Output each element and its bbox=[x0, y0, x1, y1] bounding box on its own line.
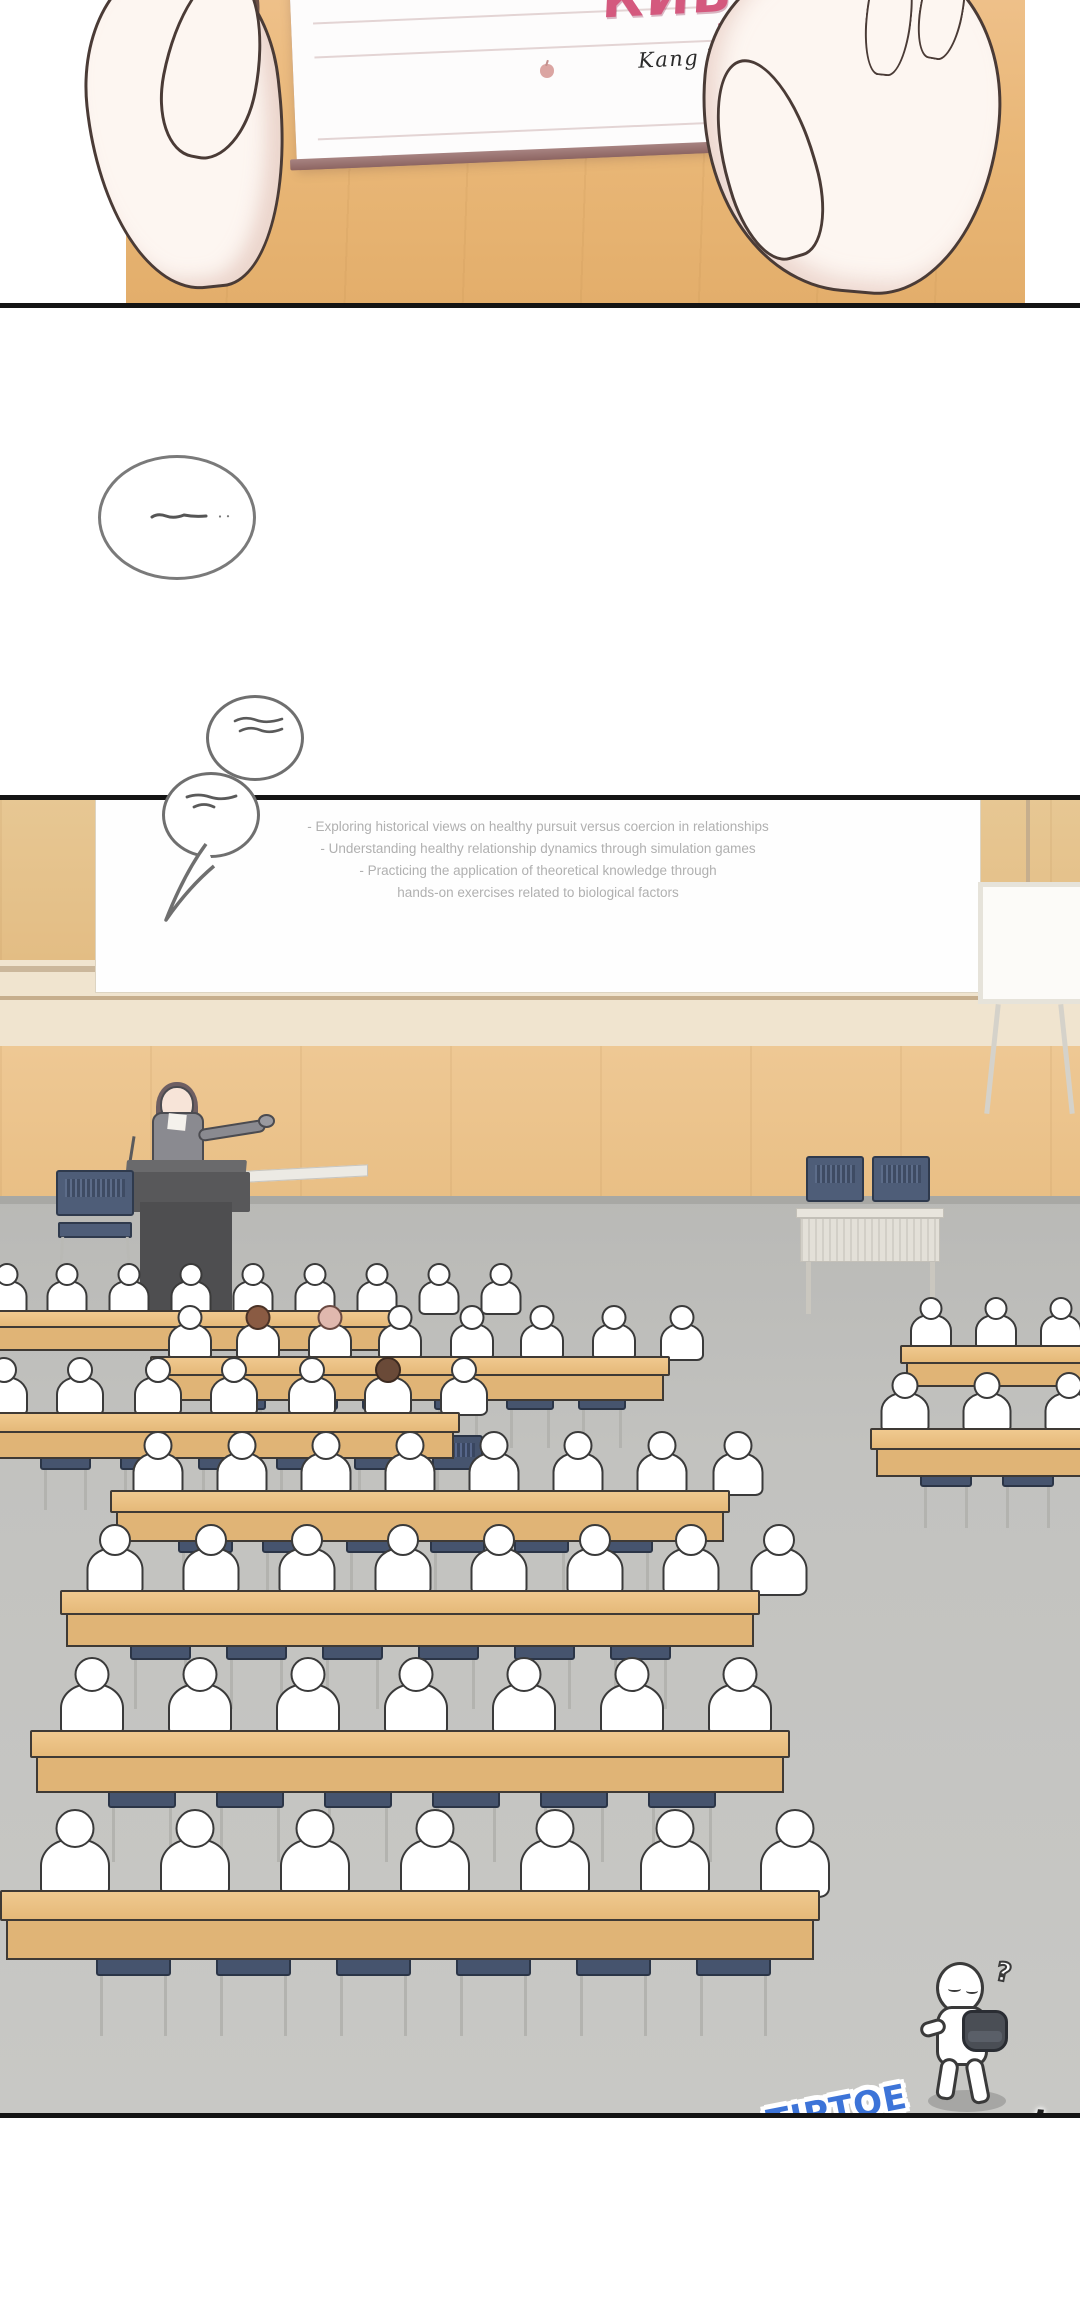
student-head bbox=[75, 1657, 110, 1692]
folding-chair bbox=[872, 1156, 930, 1226]
student-head bbox=[55, 1263, 78, 1286]
speech-bubble-tail bbox=[158, 840, 228, 924]
student-head bbox=[221, 1357, 247, 1383]
student-head bbox=[145, 1357, 171, 1383]
chair-leg bbox=[601, 1808, 604, 1862]
student-head bbox=[395, 1431, 424, 1460]
question-mark-icon: ? bbox=[993, 1957, 1014, 1989]
student-head bbox=[176, 1809, 215, 1848]
slide-bullet: hands-on exercises related to biological… bbox=[96, 883, 980, 904]
chair-leg bbox=[44, 1470, 47, 1510]
panel-margin-right bbox=[1025, 0, 1080, 303]
chair-leg bbox=[580, 1976, 583, 2036]
lecture-desk bbox=[110, 1490, 730, 1513]
whiteboard bbox=[978, 882, 1080, 1004]
student-head bbox=[178, 1305, 203, 1330]
chair-leg bbox=[924, 1487, 927, 1528]
student-head bbox=[241, 1263, 264, 1286]
student-head bbox=[388, 1305, 413, 1330]
student-head bbox=[602, 1305, 627, 1330]
student-head bbox=[365, 1263, 388, 1286]
chair-leg bbox=[376, 1660, 379, 1709]
lecturer-hand bbox=[258, 1114, 275, 1128]
student-head bbox=[416, 1809, 455, 1848]
student-head bbox=[375, 1357, 401, 1383]
chair-leg bbox=[134, 1660, 137, 1709]
speech-bubble-upper-squiggles bbox=[232, 714, 290, 740]
student-head bbox=[656, 1809, 695, 1848]
student-head bbox=[179, 1263, 202, 1286]
chair-leg bbox=[1047, 1487, 1050, 1528]
student-head bbox=[311, 1431, 340, 1460]
student-head bbox=[973, 1372, 1000, 1399]
character-eye bbox=[948, 1986, 961, 1992]
student-head bbox=[615, 1657, 650, 1692]
chair-leg bbox=[340, 1976, 343, 2036]
student-head bbox=[530, 1305, 555, 1330]
student-head bbox=[536, 1809, 575, 1848]
student-head bbox=[427, 1263, 450, 1286]
chair-leg bbox=[100, 1976, 103, 2036]
student-head bbox=[291, 1524, 323, 1556]
chair-leg bbox=[1006, 1487, 1009, 1528]
chair-leg bbox=[619, 1410, 622, 1448]
student-head bbox=[67, 1357, 93, 1383]
lecture-desk bbox=[0, 1890, 820, 1921]
student-head bbox=[1055, 1372, 1080, 1399]
student-head bbox=[299, 1357, 325, 1383]
student-head bbox=[387, 1524, 419, 1556]
speech-bubble-squiggle bbox=[150, 512, 238, 520]
student-head bbox=[563, 1431, 592, 1460]
lecture-desk-front bbox=[876, 1450, 1080, 1477]
student-head bbox=[1050, 1297, 1073, 1320]
character-eye bbox=[966, 1988, 978, 1994]
chair-leg bbox=[472, 1660, 475, 1709]
chair-leg bbox=[164, 1976, 167, 2036]
folding-chair bbox=[806, 1156, 864, 1226]
student-head bbox=[776, 1809, 815, 1848]
lecture-desk-front bbox=[66, 1615, 754, 1647]
student-head bbox=[579, 1524, 611, 1556]
student-head bbox=[675, 1524, 707, 1556]
page-footer-space bbox=[0, 2118, 1080, 2301]
chair-leg bbox=[112, 1808, 115, 1862]
apple-icon bbox=[540, 64, 554, 78]
chair-back bbox=[806, 1156, 864, 1202]
chair-leg bbox=[700, 1976, 703, 2036]
student-head bbox=[891, 1372, 918, 1399]
student-head bbox=[483, 1524, 515, 1556]
lecture-desk bbox=[870, 1428, 1080, 1450]
lecture-desk bbox=[0, 1412, 460, 1433]
lecture-desk bbox=[900, 1345, 1080, 1364]
student-head bbox=[670, 1305, 695, 1330]
slide-bullet: - Practicing the application of theoreti… bbox=[96, 861, 980, 882]
paper-rule-line bbox=[318, 122, 718, 140]
lecture-desk-front bbox=[36, 1758, 784, 1793]
student-head bbox=[143, 1431, 172, 1460]
chair-leg bbox=[764, 1976, 767, 2036]
student-head bbox=[920, 1297, 943, 1320]
student-head bbox=[183, 1657, 218, 1692]
student-head bbox=[56, 1809, 95, 1848]
student-head bbox=[479, 1431, 508, 1460]
side-table-leg bbox=[806, 1262, 811, 1314]
chair-leg bbox=[524, 1976, 527, 2036]
lecture-desk-front bbox=[6, 1921, 814, 1960]
lecture-desk bbox=[30, 1730, 790, 1758]
chair-leg bbox=[965, 1487, 968, 1528]
chair-leg bbox=[568, 1660, 571, 1709]
chair-leg bbox=[284, 1976, 287, 2036]
student-torso bbox=[1044, 1392, 1080, 1433]
backpack bbox=[962, 2010, 1008, 2052]
panel-hands-notepad: КИВ Kang Yui bbox=[0, 0, 1080, 303]
speech-bubble-lower-squiggles bbox=[184, 790, 242, 816]
chair-leg bbox=[664, 1660, 667, 1709]
chair-seat bbox=[58, 1222, 132, 1238]
student-head bbox=[451, 1357, 477, 1383]
student-head bbox=[723, 1431, 752, 1460]
panel-lecture-hall: ★Understanding Healthy Sexual Behavior★ … bbox=[0, 800, 1080, 2116]
student-head bbox=[647, 1431, 676, 1460]
comic-page: КИВ Kang Yui ★Understanding Healthy Sexu… bbox=[0, 0, 1080, 2301]
chair-leg bbox=[547, 1410, 550, 1448]
chair-leg bbox=[644, 1976, 647, 2036]
chair-back bbox=[872, 1156, 930, 1202]
student-head bbox=[399, 1657, 434, 1692]
student-head bbox=[195, 1524, 227, 1556]
chair-leg bbox=[385, 1808, 388, 1862]
student-head bbox=[723, 1657, 758, 1692]
student-head bbox=[318, 1305, 343, 1330]
student-head bbox=[117, 1263, 140, 1286]
chair-leg bbox=[84, 1470, 87, 1510]
student-head bbox=[763, 1524, 795, 1556]
student-head bbox=[489, 1263, 512, 1286]
student-head bbox=[99, 1524, 131, 1556]
student-head bbox=[303, 1263, 326, 1286]
lecturer-collar bbox=[167, 1113, 187, 1131]
chair-back bbox=[56, 1170, 134, 1216]
student-head bbox=[246, 1305, 271, 1330]
chair-leg bbox=[493, 1808, 496, 1862]
student-head bbox=[296, 1809, 335, 1848]
student-head bbox=[291, 1657, 326, 1692]
chair-leg bbox=[460, 1976, 463, 2036]
student-head bbox=[985, 1297, 1008, 1320]
chair-leg bbox=[220, 1976, 223, 2036]
sneaking-student: ? bbox=[912, 1962, 1022, 2102]
chair-leg bbox=[404, 1976, 407, 2036]
student-head bbox=[227, 1431, 256, 1460]
student-head bbox=[507, 1657, 542, 1692]
lecture-desk bbox=[60, 1590, 760, 1615]
student-head bbox=[460, 1305, 485, 1330]
